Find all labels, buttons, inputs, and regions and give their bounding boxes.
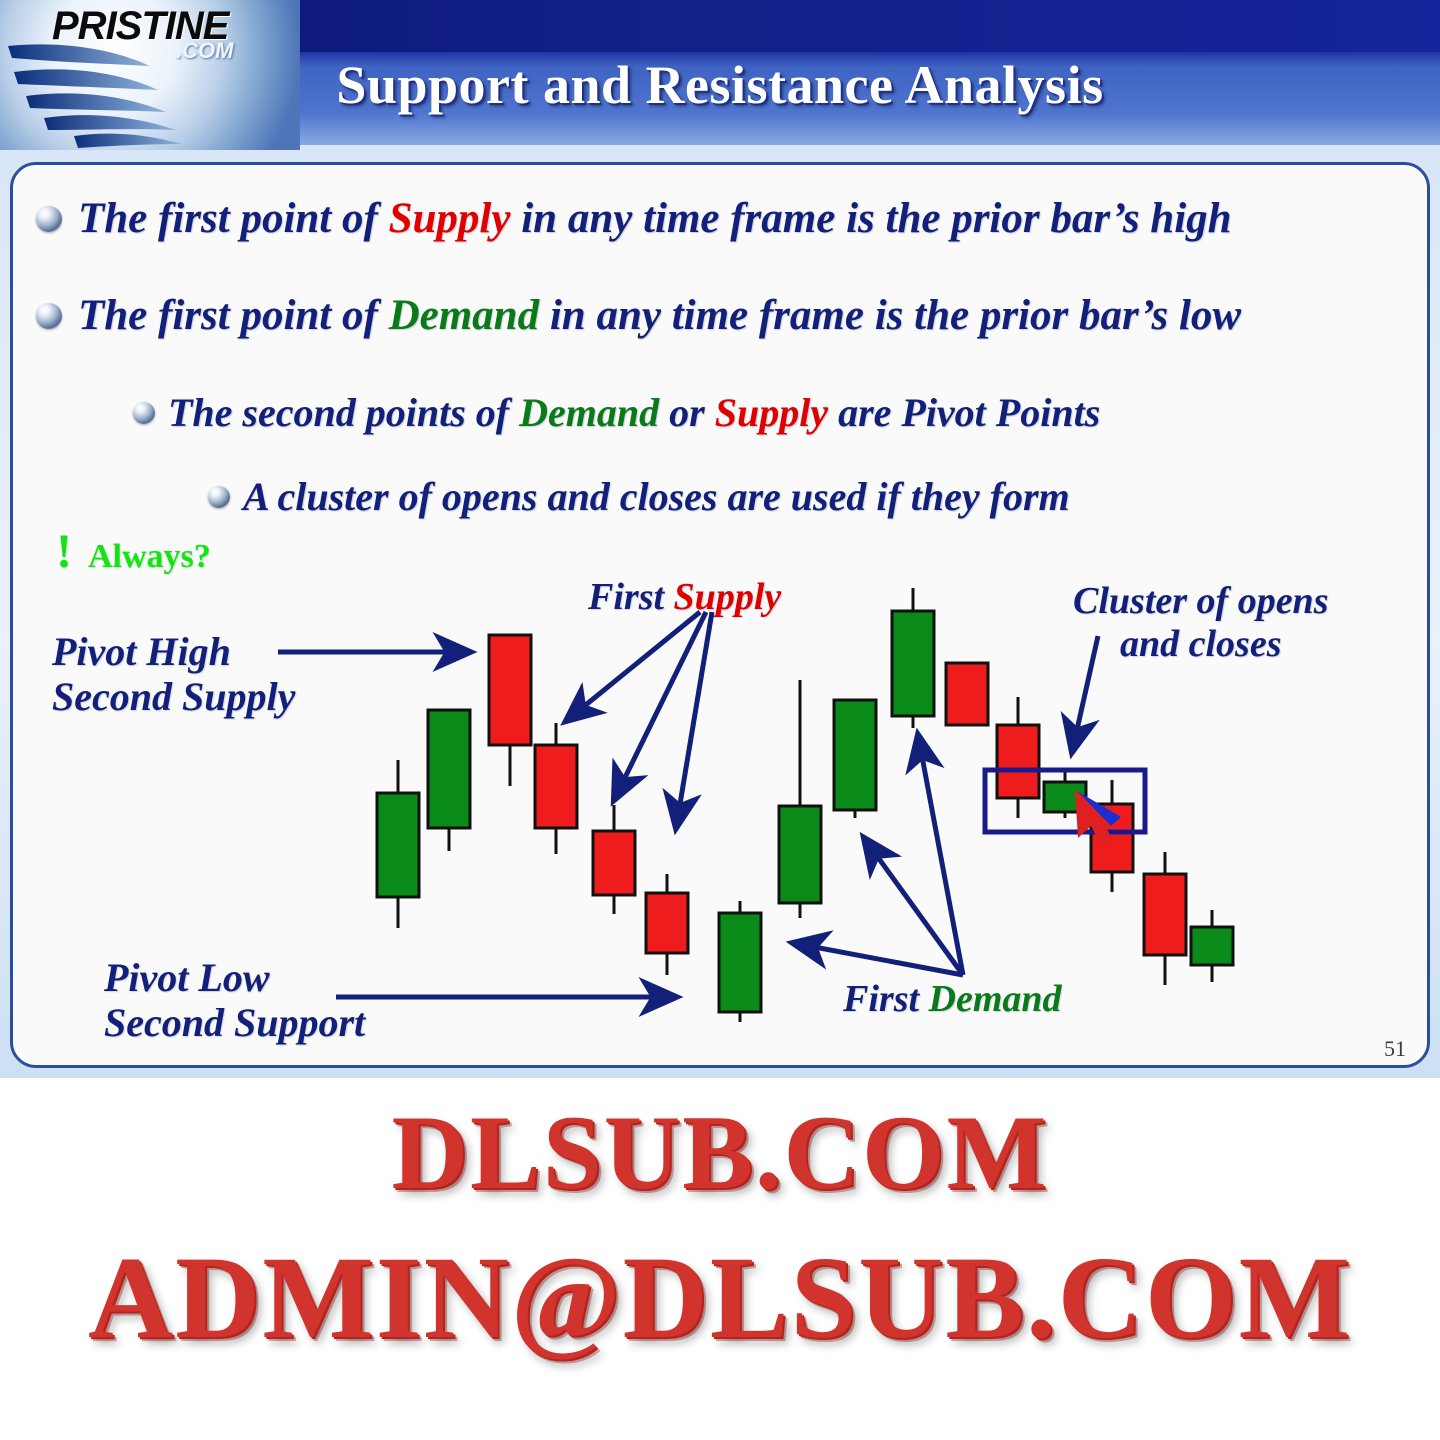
bullet-sphere-icon [133, 402, 155, 424]
exclamation-icon: ! [56, 528, 72, 576]
label-pivot-low: Pivot Low Second Support [104, 956, 365, 1046]
logo-domain: .COM [176, 38, 233, 64]
bullet-text-4: A cluster of opens and closes are used i… [243, 473, 1070, 520]
bullet-first-supply: The first point of Supply in any time fr… [36, 194, 1232, 243]
label-first-supply-plain: First [588, 576, 674, 618]
label-first-supply-accent: Supply [674, 576, 782, 618]
watermark-email: ADMIN@DLSUB.COM [0, 1230, 1440, 1366]
bullet-text-2: The first point of Demand in any time fr… [78, 291, 1241, 340]
slide-area: Support and Resistance Analysis PRISTINE… [0, 0, 1440, 1078]
label-cluster: Cluster of opens and closes [1073, 580, 1328, 665]
bullet-first-demand: The first point of Demand in any time fr… [36, 291, 1241, 340]
label-first-supply: First Supply [588, 576, 781, 619]
label-first-demand-plain: First [843, 978, 929, 1020]
bullet-text-1: The first point of Supply in any time fr… [78, 194, 1232, 243]
label-cluster-line1: Cluster of opens [1073, 580, 1328, 623]
watermark-band: DLSUB.COM ADMIN@DLSUB.COM [0, 1078, 1440, 1440]
always-label: Always? [88, 538, 211, 576]
label-pivot-high-line2: Second Supply [52, 675, 295, 720]
bullet-second-points: The second points of Demand or Supply ar… [133, 389, 1100, 436]
pristine-logo: PRISTINE .COM [0, 0, 300, 150]
bullet-cluster-rule: A cluster of opens and closes are used i… [208, 473, 1070, 520]
label-first-demand: First Demand [843, 978, 1062, 1021]
page-number: 51 [1384, 1036, 1406, 1062]
bullet-sphere-icon [36, 303, 62, 329]
bullet-sphere-icon [208, 486, 230, 508]
bullet-sphere-icon [36, 206, 62, 232]
always-note: ! Always? [56, 528, 211, 576]
label-pivot-low-line2: Second Support [104, 1001, 365, 1046]
label-pivot-high-line1: Pivot High [52, 630, 295, 675]
label-pivot-high: Pivot High Second Supply [52, 630, 295, 720]
slide-page: Support and Resistance Analysis PRISTINE… [0, 0, 1440, 1440]
label-cluster-line2: and closes [1073, 623, 1328, 666]
label-pivot-low-line1: Pivot Low [104, 956, 365, 1001]
label-first-demand-accent: Demand [929, 978, 1062, 1020]
watermark-site: DLSUB.COM [0, 1092, 1440, 1214]
bullet-text-3: The second points of Demand or Supply ar… [168, 389, 1100, 436]
